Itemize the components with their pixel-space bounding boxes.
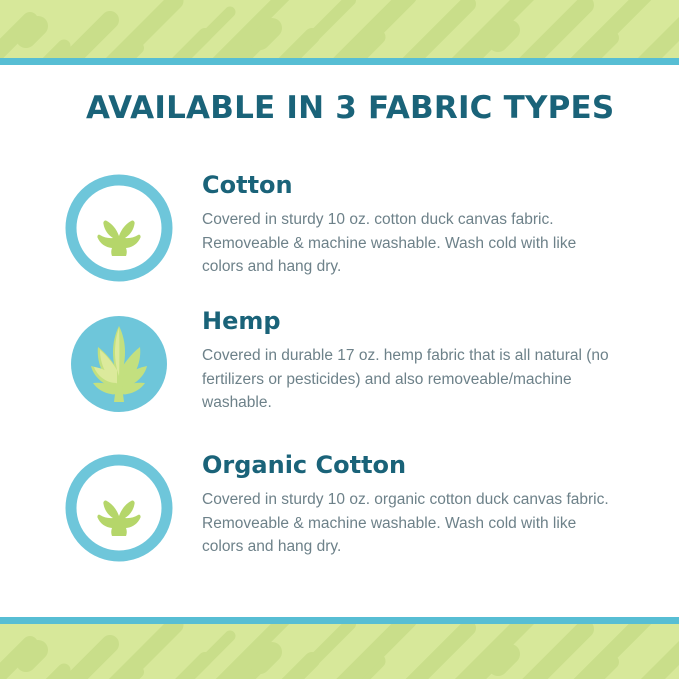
fabric-name: Organic Cotton <box>202 452 609 478</box>
hemp-leaf-icon <box>58 308 180 418</box>
cotton-boll-icon <box>58 452 180 562</box>
top-decorative-band <box>0 0 679 58</box>
fabric-text-block: Organic Cotton Covered in sturdy 10 oz. … <box>202 452 679 559</box>
fabric-row: Organic Cotton Covered in sturdy 10 oz. … <box>0 452 679 562</box>
infographic-page: AVAILABLE IN 3 FABRIC TYPES Cotton Cover… <box>0 0 679 679</box>
bottom-decorative-band <box>0 624 679 679</box>
fabric-description: Covered in sturdy 10 oz. organic cotton … <box>202 488 609 559</box>
fabric-name: Hemp <box>202 308 609 334</box>
page-title: AVAILABLE IN 3 FABRIC TYPES <box>86 90 614 126</box>
fabric-row: Hemp Covered in durable 17 oz. hemp fabr… <box>0 308 679 418</box>
bottom-divider-rule <box>0 617 679 624</box>
fabric-description: Covered in durable 17 oz. hemp fabric th… <box>202 344 609 415</box>
fabric-row: Cotton Covered in sturdy 10 oz. cotton d… <box>0 172 679 282</box>
diagonal-stripe-pattern <box>0 624 679 679</box>
cotton-boll-icon <box>58 172 180 282</box>
top-divider-rule <box>0 58 679 65</box>
fabric-description: Covered in sturdy 10 oz. cotton duck can… <box>202 208 609 279</box>
fabric-text-block: Hemp Covered in durable 17 oz. hemp fabr… <box>202 308 679 415</box>
fabric-name: Cotton <box>202 172 609 198</box>
diagonal-stripe-pattern <box>0 0 679 58</box>
fabric-text-block: Cotton Covered in sturdy 10 oz. cotton d… <box>202 172 679 279</box>
